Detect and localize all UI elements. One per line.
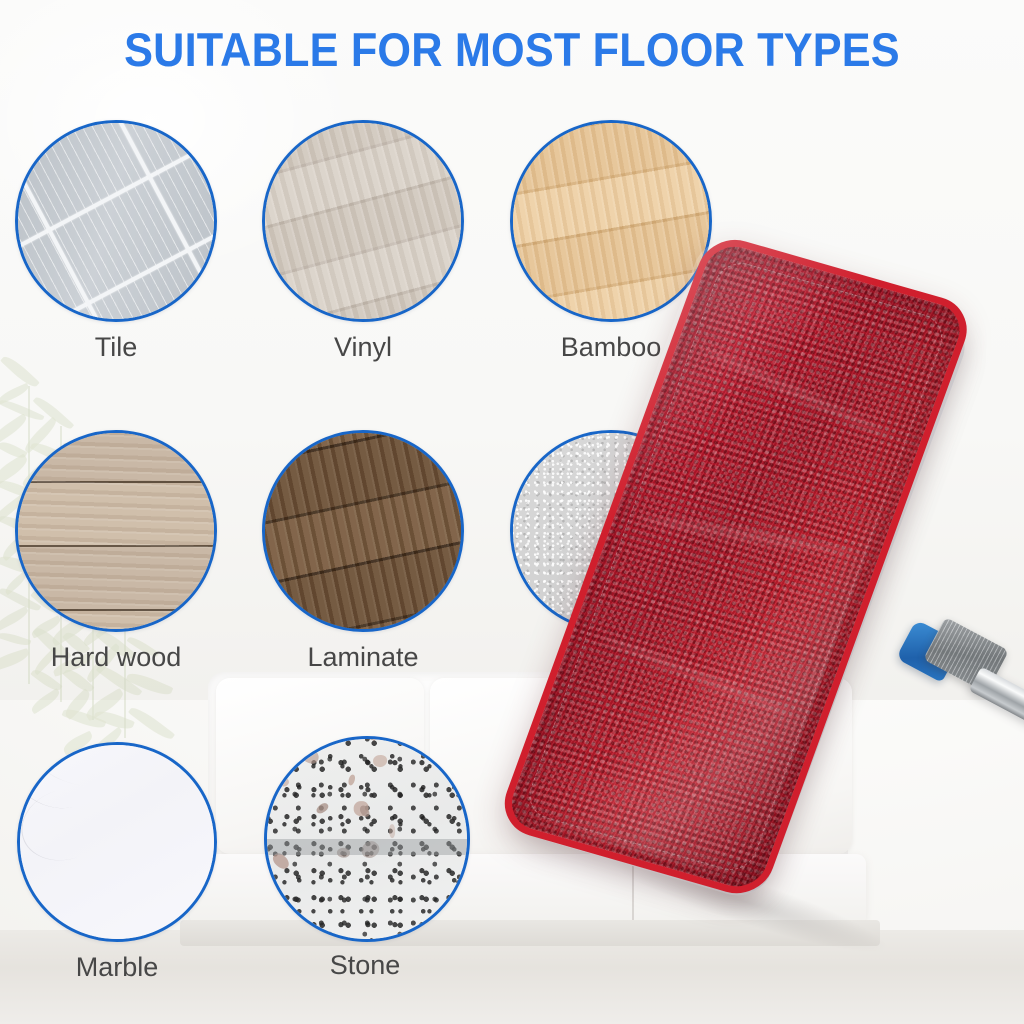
- laminate-texture: [262, 430, 464, 632]
- cement-texture: [510, 430, 712, 632]
- floor-type-marble[interactable]: Marble: [17, 742, 217, 1012]
- floor-type-laminate[interactable]: Laminate: [262, 430, 464, 700]
- terrazzo-chip: [278, 776, 290, 788]
- floor-type-vinyl[interactable]: Vinyl: [262, 120, 464, 390]
- laminate-swatch-disc: [262, 430, 464, 632]
- terrazzo-chip: [300, 746, 321, 766]
- hardwood-label: Hard wood: [51, 642, 182, 673]
- cement-label: Cement: [564, 642, 659, 673]
- terrazzo-chip: [389, 824, 396, 838]
- terrazzo-chip: [320, 736, 332, 740]
- laminate-label: Laminate: [307, 642, 418, 673]
- page-title: SUITABLE FOR MOST FLOOR TYPES: [41, 22, 983, 77]
- stone-seam: [264, 839, 470, 855]
- marble-swatch-disc: [17, 742, 217, 942]
- floor-type-tile[interactable]: Tile: [15, 120, 217, 390]
- tile-swatch-disc: [15, 120, 217, 322]
- stone-label: Stone: [330, 950, 401, 981]
- vinyl-swatch-disc: [262, 120, 464, 322]
- vinyl-label: Vinyl: [334, 332, 392, 363]
- hardwood-texture: [15, 430, 217, 632]
- floor-type-cement[interactable]: Cement: [510, 430, 712, 700]
- bamboo-swatch-disc: [510, 120, 712, 322]
- floor-type-hardwood[interactable]: Hard wood: [15, 430, 217, 700]
- bamboo-texture: [510, 120, 712, 322]
- tile-label: Tile: [95, 332, 138, 363]
- vinyl-texture: [262, 120, 464, 322]
- floor-type-stone[interactable]: Stone: [264, 736, 466, 1012]
- terrazzo-chip: [347, 774, 356, 786]
- hardwood-swatch-disc: [15, 430, 217, 632]
- floor-type-bamboo[interactable]: Bamboo: [510, 120, 712, 390]
- bamboo-label: Bamboo: [561, 332, 662, 363]
- marble-texture: [17, 742, 217, 942]
- terrazzo-chip: [264, 736, 270, 743]
- terrazzo-chip: [373, 755, 388, 768]
- infographic-canvas: SUITABLE FOR MOST FLOOR TYPES Tile Vinyl…: [0, 0, 1024, 1024]
- plant-leaf: [128, 703, 175, 743]
- sofa-seam: [632, 858, 634, 922]
- sofa-cushion: [644, 678, 852, 854]
- cement-swatch-disc: [510, 430, 712, 632]
- stone-swatch-disc: [264, 736, 470, 942]
- terrazzo-chip: [370, 736, 379, 741]
- terrazzo-chip: [315, 801, 330, 815]
- marble-label: Marble: [76, 952, 159, 983]
- terrazzo-chip: [358, 804, 370, 818]
